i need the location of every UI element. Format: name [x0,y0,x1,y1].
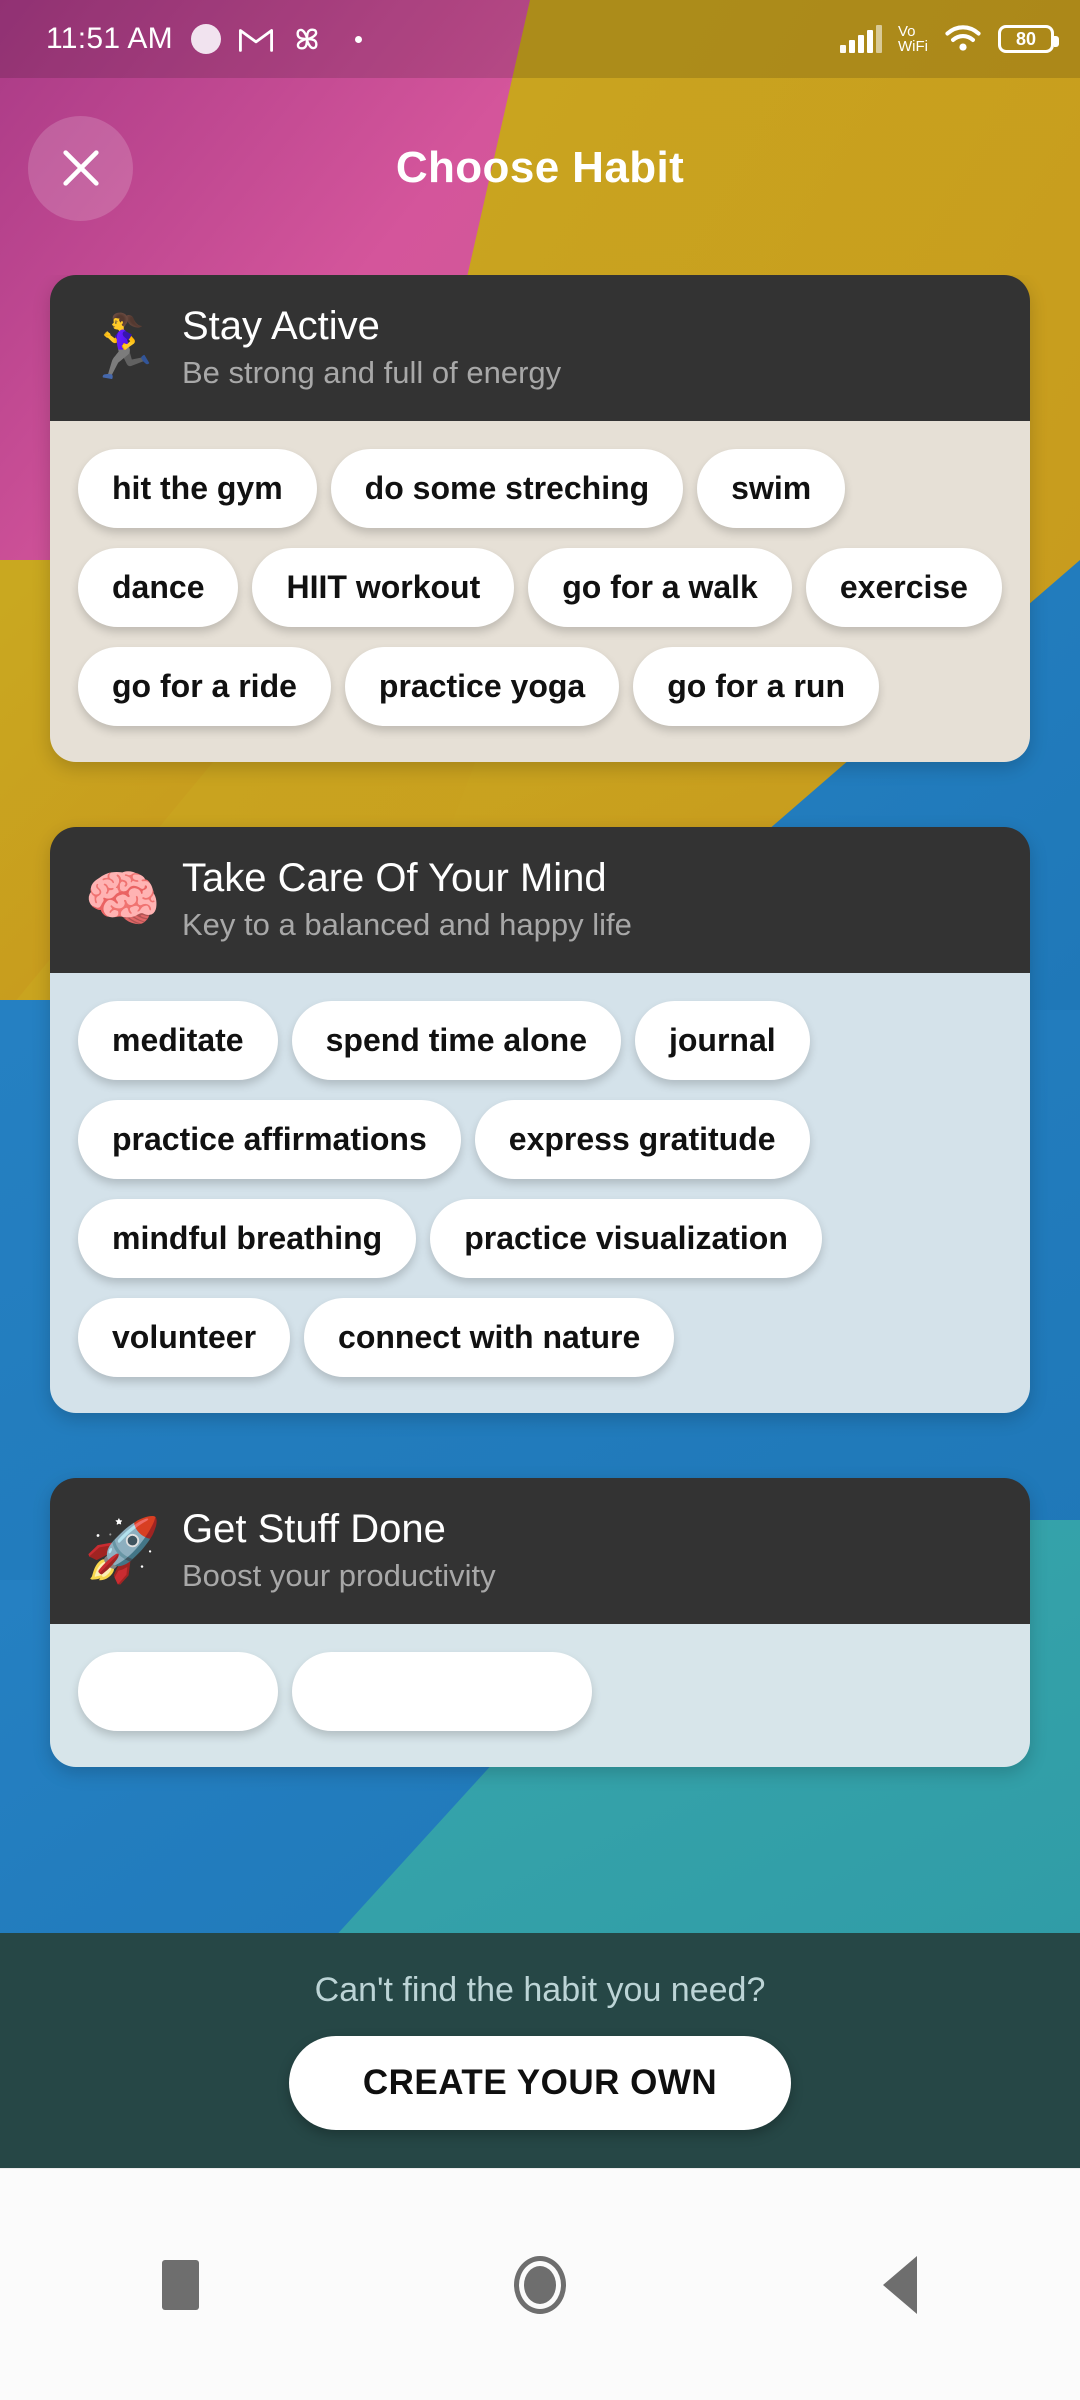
triangle-back-icon [883,2256,917,2314]
bottom-cta-bar: Can't find the habit you need? CREATE YO… [0,1933,1080,2168]
habit-chip[interactable]: dance [78,548,238,627]
recents-button[interactable] [115,2220,245,2350]
status-bar-clock: 11:51 AM [46,22,173,56]
pinwheel-icon [291,23,323,55]
wifi-icon [944,25,982,53]
status-bar-left: 11:51 AM [46,22,362,56]
habit-category-card: 🏃‍♀️Stay ActiveBe strong and full of ene… [50,275,1030,762]
habit-category-card: 🧠Take Care Of Your MindKey to a balanced… [50,827,1030,1413]
home-button[interactable] [475,2220,605,2350]
close-icon [58,145,104,191]
android-nav-bar [0,2168,1080,2400]
page-title: Choose Habit [0,143,1080,193]
habit-chip-group: meditatespend time alonejournalpractice … [50,973,1030,1413]
habit-chip[interactable]: do some streching [331,449,684,528]
habit-category-list[interactable]: 🏃‍♀️Stay ActiveBe strong and full of ene… [0,275,1080,2025]
habit-chip[interactable]: hit the gym [78,449,317,528]
habit-chip[interactable]: volunteer [78,1298,290,1377]
circle-home-icon [514,2256,566,2314]
habit-chip[interactable] [292,1652,592,1731]
habit-chip[interactable]: connect with nature [304,1298,674,1377]
habit-chip[interactable]: journal [635,1001,810,1080]
habit-chip[interactable]: practice visualization [430,1199,822,1278]
rocket-icon: 🚀 [84,1519,156,1581]
habit-chip[interactable]: go for a ride [78,647,331,726]
cta-question-text: Can't find the habit you need? [315,1971,766,2010]
running-woman-icon: 🏃‍♀️ [84,316,156,378]
habit-category-subtitle: Boost your productivity [182,1558,496,1594]
gmail-icon [239,26,273,52]
square-recents-icon [162,2260,199,2310]
battery-icon: 80 [998,25,1054,53]
habit-category-card: 🚀Get Stuff DoneBoost your productivity [50,1478,1030,1767]
habit-category-subtitle: Be strong and full of energy [182,355,561,391]
battery-percent: 80 [1016,29,1036,50]
habit-category-header: 🚀Get Stuff DoneBoost your productivity [50,1478,1030,1624]
habit-category-title: Stay Active [182,303,561,349]
habit-chip[interactable]: spend time alone [292,1001,621,1080]
signal-bars-icon [840,26,882,53]
habit-chip[interactable] [78,1652,278,1731]
habit-chip-group: hit the gymdo some strechingswimdanceHII… [50,421,1030,762]
habit-category-title: Take Care Of Your Mind [182,855,632,901]
habit-category-subtitle: Key to a balanced and happy life [182,907,632,943]
habit-chip[interactable]: meditate [78,1001,278,1080]
habit-chip[interactable]: practice yoga [345,647,619,726]
status-bar: 11:51 AM Vo WiFi 80 [0,0,1080,78]
habit-chip[interactable]: swim [697,449,845,528]
habit-category-title: Get Stuff Done [182,1506,496,1552]
habit-chip[interactable]: exercise [806,548,1002,627]
habit-chip[interactable]: express gratitude [475,1100,810,1179]
habit-chip[interactable]: go for a walk [528,548,792,627]
habit-category-header: 🏃‍♀️Stay ActiveBe strong and full of ene… [50,275,1030,421]
app-header: Choose Habit [0,78,1080,258]
habit-chip[interactable]: go for a run [633,647,879,726]
close-button[interactable] [28,116,133,221]
brain-in-hand-icon: 🧠 [84,868,156,930]
status-bar-right: Vo WiFi 80 [840,24,1054,54]
habit-chip-group [50,1624,1030,1767]
back-button[interactable] [835,2220,965,2350]
create-your-own-button[interactable]: CREATE YOUR OWN [289,2036,791,2130]
volte-wifi-icon: Vo WiFi [898,24,928,54]
circle-icon [191,24,221,54]
habit-chip[interactable]: HIIT workout [252,548,514,627]
habit-chip[interactable]: mindful breathing [78,1199,416,1278]
habit-category-header: 🧠Take Care Of Your MindKey to a balanced… [50,827,1030,973]
wifi-label: WiFi [898,38,928,55]
habit-chip[interactable]: practice affirmations [78,1100,461,1179]
dot-icon [355,36,362,43]
